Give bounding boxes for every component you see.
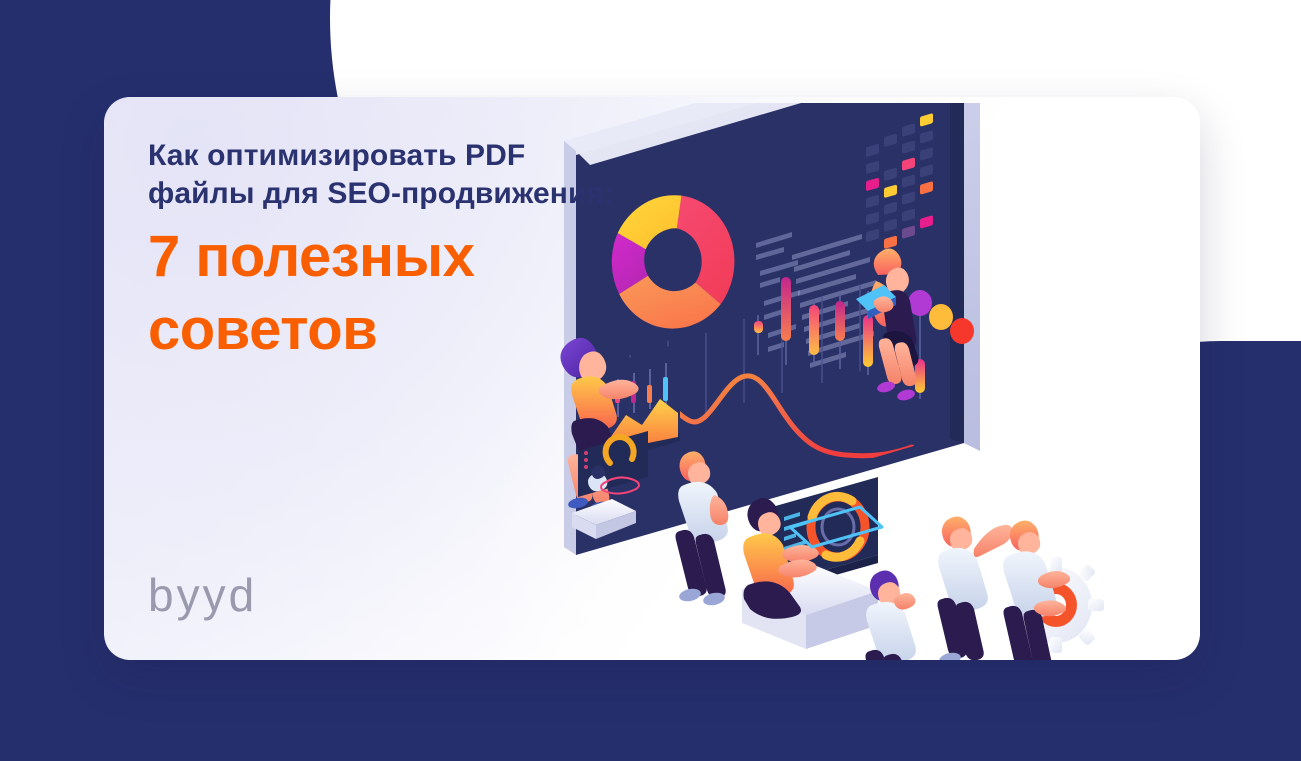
candle-7 [915, 359, 925, 393]
monitor-inner-rim [950, 103, 964, 443]
man-reach-arm-up [974, 525, 1013, 557]
brand-logo: byyd [148, 572, 257, 618]
headline-highlight-line-1: 7 полезных [148, 226, 748, 287]
headline-line-2: файлы для SEO-продвижения: [148, 175, 748, 213]
figure-man-with-gear [1003, 520, 1104, 660]
headline-highlight-line-2: советов [148, 299, 748, 360]
candle-3 [809, 305, 819, 355]
candle-2 [781, 277, 791, 341]
content-card: Как оптимизировать PDF файлы для SEO-про… [104, 97, 1200, 660]
candle-1 [754, 321, 763, 333]
candle-5 [863, 315, 873, 367]
figure-man-reaching [938, 516, 1013, 660]
poster-canvas: Как оптимизировать PDF файлы для SEO-про… [0, 0, 1301, 761]
dot-yellow-icon [929, 304, 953, 330]
headline-line-1: Как оптимизировать PDF [148, 137, 748, 175]
figure-man-purple-hair [866, 570, 916, 660]
dot-red-icon [950, 318, 974, 344]
headline-block: Как оптимизировать PDF файлы для SEO-про… [148, 137, 748, 361]
desk-monitor-dots [584, 451, 588, 469]
monitor-right-bezel [964, 103, 980, 451]
brand-logo-text: byyd [148, 572, 257, 618]
candle-4 [835, 301, 845, 341]
